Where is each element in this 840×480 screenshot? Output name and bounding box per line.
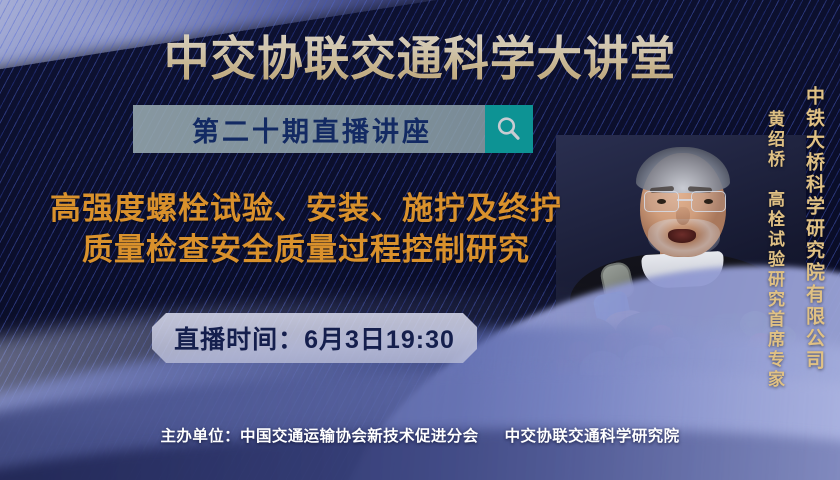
search-icon [494,114,524,144]
lecture-topic-line1: 高强度螺栓试验、安装、施拧及终拧 [50,191,562,226]
live-lecture-poster: 中交协联交通科学大讲堂 第二十期直播讲座 高强度螺栓试验、安装、施拧及终拧 质量… [0,0,840,480]
search-icon-tile[interactable] [485,105,533,153]
speaker-mouth [668,229,696,243]
page-title: 中交协联交通科学大讲堂 [13,20,828,89]
footer-org-2: 中交协联交通科学研究院 [505,428,680,445]
broadcast-time-badge: 直播时间：6月3日19:30 [152,313,477,363]
speaker-name-role: 黄绍桥 高栓试验研究首席专家 [762,110,787,400]
speaker-eye-right [704,199,713,204]
broadcast-time-text: 直播时间：6月3日19:30 [174,320,455,356]
footer-label: 主办单位： [161,428,241,445]
speaker-organization: 中铁大桥科学研究院有限公司 [800,86,827,386]
lecture-topic-line2: 质量检查安全质量过程控制研究 [8,229,604,270]
footer-organizers: 主办单位：中国交通运输协会新技术促进分会中交协联交通科学研究院 [0,424,840,446]
glasses-lens-left [644,191,679,212]
footer-org-1: 中国交通运输协会新技术促进分会 [240,428,479,445]
glasses-bridge [677,199,693,201]
speaker-eye-left [657,199,666,204]
glasses-lens-right [691,191,726,212]
lecture-topic: 高强度螺栓试验、安装、施拧及终拧 质量检查安全质量过程控制研究 [8,188,604,270]
subtitle-text: 第二十期直播讲座 [186,110,432,149]
subtitle-banner: 第二十期直播讲座 [133,105,485,153]
speaker-nose [676,207,690,225]
